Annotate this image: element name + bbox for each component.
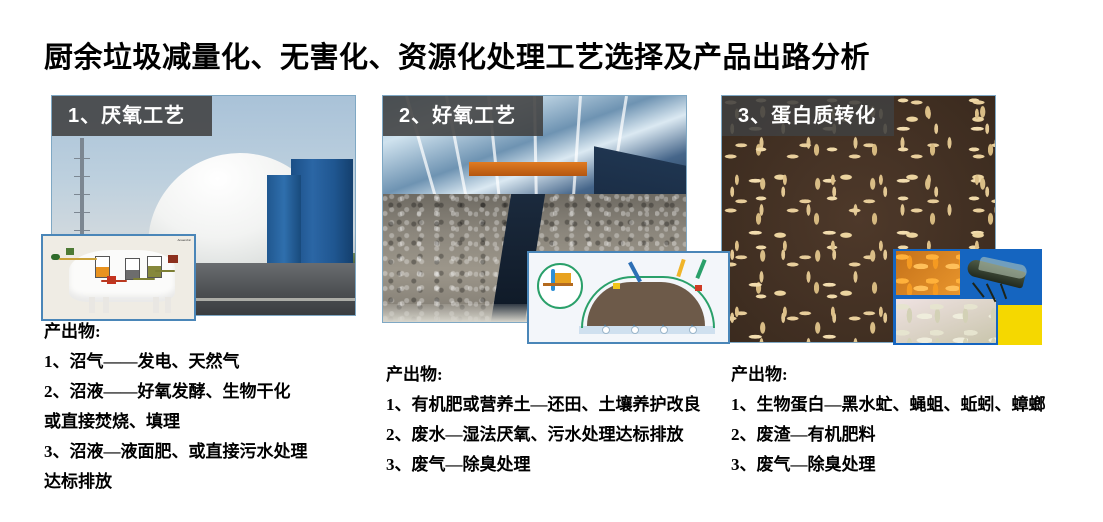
cow-leg: [153, 297, 159, 313]
fly-leg: [972, 282, 984, 297]
ceiling-beam: [572, 96, 582, 200]
output-item: 2、废水—湿法厌氧、污水处理达标排放: [386, 420, 701, 450]
heat-pipe: [101, 280, 127, 282]
fermenter-vessel: [147, 256, 162, 278]
aeration-nozzle: [599, 324, 611, 334]
cycle-bar: [543, 283, 573, 286]
pupae-photo: [896, 299, 996, 343]
aeration-nozzle: [686, 324, 698, 334]
output-item: 1、生物蛋白—黑水虻、蝇蛆、蚯蚓、蟑螂: [731, 390, 1046, 420]
aeration-nozzle: [628, 324, 640, 334]
cow-leg: [103, 297, 109, 313]
panel-banner-protein: 3、蛋白质转化: [722, 96, 894, 136]
fermenter-vessel: [125, 258, 140, 280]
oxygen-arrow: [676, 259, 685, 277]
output-item: 2、沼液——好氧发酵、生物干化: [44, 377, 308, 407]
output-item: 3、废气—除臭处理: [386, 450, 701, 480]
outputs-aerobic: 产出物: 1、有机肥或营养土—还田、土壤养护改良 2、废水—湿法厌氧、污水处理达…: [386, 360, 701, 480]
inset-diagram-aerobic-composting[interactable]: [527, 251, 730, 344]
output-item: 3、沼液—液面肥、或直接污水处理: [44, 437, 308, 467]
vapor-arrow: [695, 259, 706, 279]
output-item: 1、有机肥或营养土—还田、土壤养护改良: [386, 390, 701, 420]
output-item-cont: 达标排放: [44, 467, 308, 497]
aeration-nozzle: [657, 324, 669, 334]
output-item: 3、废气—除臭处理: [731, 450, 1046, 480]
temperature-marker: [695, 285, 702, 291]
fly-leg: [1000, 283, 1007, 299]
fermenter-vessel: [95, 256, 110, 278]
yellow-block: [998, 305, 1042, 345]
membrane-cover: [581, 276, 715, 328]
process-cycle-icon: [537, 263, 583, 309]
panel-banner-anaerobic: 1、厌氧工艺: [52, 96, 212, 136]
inset-caption-anaerobic: Anaerobic: [177, 238, 191, 242]
panel-banner-aerobic: 2、好氧工艺: [383, 96, 543, 136]
outputs-heading: 产出物:: [44, 317, 308, 347]
cycle-block: [555, 273, 571, 283]
turning-machine-crane: [469, 162, 587, 176]
feed-pipe: [59, 258, 97, 260]
cow-leg: [89, 297, 95, 313]
outputs-protein: 产出物: 1、生物蛋白—黑水虻、蝇蛆、蚯蚓、蟑螂 2、废渣—有机肥料 3、废气—…: [731, 360, 1046, 480]
page-title: 厨余垃圾减量化、无害化、资源化处理工艺选择及产品出路分析: [44, 34, 870, 76]
output-item: 2、废渣—有机肥料: [731, 420, 1046, 450]
transfer-pipe: [133, 278, 155, 280]
sensor-marker: [613, 283, 620, 289]
outputs-heading: 产出物:: [386, 360, 701, 390]
inset-photo-insect-composite[interactable]: [893, 249, 1042, 345]
inset-diagram-cow-digestion[interactable]: Anaerobic: [41, 234, 196, 321]
cow-leg: [165, 297, 171, 313]
output-item-cont: 或直接焚烧、填理: [44, 407, 308, 437]
blue-digester-tank-secondary: [267, 175, 301, 271]
mealworm-photo: [896, 251, 960, 295]
feed-block: [66, 248, 74, 255]
outlet-block: [168, 255, 178, 263]
outputs-heading: 产出物:: [731, 360, 1046, 390]
output-item: 1、沼气——发电、天然气: [44, 347, 308, 377]
outlet-pipe: [155, 270, 175, 272]
outputs-anaerobic: 产出物: 1、沼气——发电、天然气 2、沼液——好氧发酵、生物干化 或直接焚烧、…: [44, 317, 308, 497]
